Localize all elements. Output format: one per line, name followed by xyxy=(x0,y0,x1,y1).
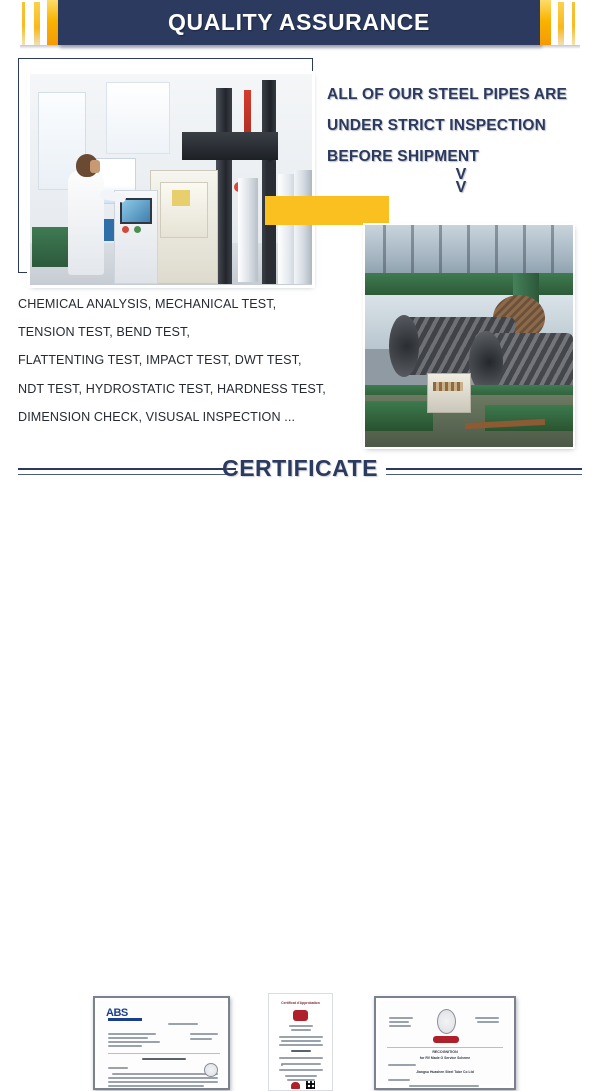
console-button-red xyxy=(122,226,129,233)
spiral-pipe-1-end xyxy=(389,315,419,377)
certificate-thumb-abs[interactable]: ABS xyxy=(93,996,230,1090)
stored-pipe-3 xyxy=(294,170,312,284)
headline-line-2: UNDER STRICT INSPECTION xyxy=(327,117,587,134)
page-header: QUALITY ASSURANCE xyxy=(0,0,600,52)
green-machine-left xyxy=(365,401,433,431)
header-stripe-right-2 xyxy=(558,2,564,45)
test-list-line-5: DIMENSION CHECK, VISUSAL INSPECTION ... xyxy=(18,411,370,424)
console-button-green xyxy=(134,226,141,233)
control-cabinet xyxy=(427,373,471,413)
certificate-thumbnails: ABS Certificat d'Approbatio xyxy=(0,496,600,592)
recognition-company: Jiangsu Huashen Steel Tube Co Ltd xyxy=(379,1070,511,1074)
test-list-line-4: NDT TEST, HYDROSTATIC TEST, HARDNESS TES… xyxy=(18,383,370,396)
header-stripe-left-2 xyxy=(34,2,40,45)
header-stripe-left-3 xyxy=(47,0,58,45)
test-list-line-1: CHEMICAL ANALYSIS, MECHANICAL TEST, xyxy=(18,298,370,311)
test-list-line-2: TENSION TEST, BEND TEST, xyxy=(18,326,370,339)
abs-seal-icon xyxy=(204,1063,218,1077)
console-screen xyxy=(120,198,152,224)
recognition-red-banner xyxy=(433,1036,459,1043)
machine-crosshead xyxy=(182,132,278,160)
pipes-factory-photo xyxy=(365,225,573,447)
approbation-heading: Certificat d'Approbation xyxy=(269,1001,332,1005)
certificate-thumb-approbation[interactable]: Certificat d'Approbation xyxy=(268,993,333,1091)
abs-logo-underline xyxy=(108,1018,142,1021)
approbation-red-seal xyxy=(293,1010,308,1021)
certificate-thumb-recognition[interactable]: RECOGNITION for RV Made O Service Scheme… xyxy=(374,996,516,1090)
page-title: QUALITY ASSURANCE xyxy=(58,0,540,45)
technician-labcoat xyxy=(68,170,104,275)
machine-column-left xyxy=(216,88,232,284)
approbation-bottom-seal xyxy=(291,1082,300,1089)
test-list: CHEMICAL ANALYSIS, MECHANICAL TEST, TENS… xyxy=(18,298,370,439)
machine-label-plate xyxy=(172,190,190,206)
chevron-down-icon-group: V V xyxy=(448,168,474,194)
recognition-subtitle: for RV Made O Service Scheme xyxy=(379,1056,511,1060)
recognition-certificate-page: RECOGNITION for RV Made O Service Scheme… xyxy=(379,1001,511,1085)
headline-line-1: ALL OF OUR STEEL PIPES ARE xyxy=(327,86,587,103)
technician-face xyxy=(90,160,100,173)
header-stripe-right-3 xyxy=(572,2,575,45)
lab-photo xyxy=(30,74,312,285)
certificate-title: CERTIFICATE xyxy=(0,455,600,482)
yellow-accent-bar xyxy=(265,196,389,225)
test-list-line-3: FLATTENTING TEST, IMPACT TEST, DWT TEST, xyxy=(18,354,370,367)
spiral-pipe-2-end xyxy=(469,331,503,393)
header-shadow xyxy=(20,45,580,49)
recognition-heading: RECOGNITION xyxy=(379,1050,511,1054)
header-stripe-left-1 xyxy=(22,2,25,45)
header-stripe-right-1 xyxy=(540,0,551,45)
recognition-crest-icon xyxy=(437,1009,456,1034)
approbation-qr-icon xyxy=(306,1081,315,1089)
headline-line-3: BEFORE SHIPMENT xyxy=(327,148,587,165)
chevron-down-icon-2: V xyxy=(448,181,474,194)
abs-certificate-page: ABS xyxy=(98,1001,225,1085)
green-overhead-beam xyxy=(365,273,573,295)
lab-window-mid xyxy=(106,82,170,154)
stored-pipe-1 xyxy=(238,178,258,282)
